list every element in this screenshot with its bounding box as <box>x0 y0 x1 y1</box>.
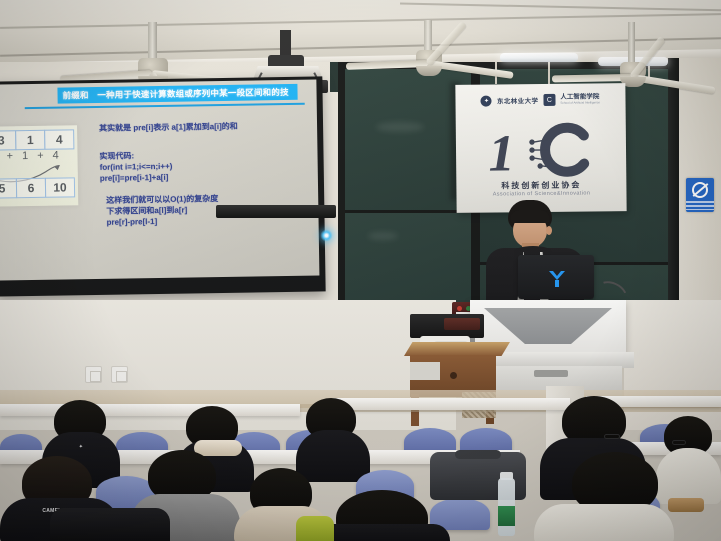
bag-accent <box>296 516 334 541</box>
cursor-indicator-icon <box>320 229 333 242</box>
sum-op: + <box>37 150 44 162</box>
sum-term: 1 <box>22 150 28 162</box>
desk-top <box>404 342 510 356</box>
fan-rod <box>628 22 635 66</box>
presenter-hair-front <box>510 210 550 223</box>
conclusion-line: 这样我们就可以以O(1)的复杂度 <box>106 193 218 206</box>
projection-screen-frame: 前缀和 一种用于快速计算数组或序列中某一段区间和的技 es 3 1 4 3 + … <box>0 76 326 296</box>
fan-blades <box>428 60 429 61</box>
ceiling-seam <box>0 13 721 29</box>
prefix-cell: 5 <box>0 178 17 198</box>
conclusion-line: pre[r]-pre[l-1] <box>106 215 218 228</box>
desk-shelf <box>410 362 440 380</box>
slide-conclusion-block: 这样我们就可以以O(1)的复杂度 下求得区间和a[l]到a[r] pre[r]-… <box>106 193 219 228</box>
slide-watermark-icon <box>283 280 305 281</box>
laptop-logo-icon <box>546 268 568 290</box>
projection-screen[interactable]: 前缀和 一种用于快速计算数组或序列中某一段区间和的技 es 3 1 4 3 + … <box>0 80 319 281</box>
prefix-row: 5 6 10 <box>0 177 75 198</box>
slide-margin-note: es <box>0 102 21 108</box>
chalk-smudge <box>368 232 398 240</box>
array-cell: 1 <box>15 130 45 150</box>
no-smoking-sign-text <box>686 201 714 210</box>
desk-row <box>330 398 570 410</box>
fan-blades <box>632 74 633 75</box>
marker <box>457 306 462 311</box>
shoulder-bag <box>50 508 170 541</box>
prefix-cell: 10 <box>45 177 75 197</box>
student-body <box>656 448 721 504</box>
school-name-en: School of Artificial Intelligence <box>560 100 600 104</box>
backpack-strap <box>455 450 501 459</box>
desk-row <box>0 404 300 416</box>
desk-drawer-knob[interactable] <box>450 372 457 379</box>
ceiling-seam <box>400 3 721 12</box>
slide-code-block: 实现代码: for(int i=1;i<=n;i++) pre[i]=pre[i… <box>99 150 172 184</box>
slide-paragraph-definition: 其实就是 pre[i]表示 a[1]累加到a[i]的和 <box>99 121 238 134</box>
jacket-logo: ✦ <box>66 444 96 450</box>
school-name-block: 人工智能学院 School of Artificial Intelligence <box>560 94 600 104</box>
wall-outlet[interactable] <box>85 366 102 383</box>
fan-blades <box>152 70 153 71</box>
association-logo-icon: 1 <box>488 121 595 178</box>
array-cell: 3 <box>0 130 16 150</box>
bottle-label <box>498 506 515 526</box>
fan-rod <box>148 22 157 62</box>
sum-term: 4 <box>53 150 59 162</box>
presenter-ear <box>546 226 552 235</box>
university-name: 东北林业大学 <box>497 95 539 105</box>
lecture-hall-photo: 前缀和 一种用于快速计算数组或序列中某一段区间和的技 es 3 1 4 3 + … <box>0 0 721 541</box>
desk-power-strip <box>444 318 480 330</box>
screen-roller-case <box>216 205 336 218</box>
sum-op: + <box>7 150 14 162</box>
association-name-en: Association of Science&Innovation <box>456 190 626 198</box>
array-row: 3 1 4 <box>0 129 74 150</box>
slide-underline <box>25 103 305 109</box>
chair-armrest <box>668 498 704 512</box>
projector-rod <box>280 30 291 58</box>
eyeglasses <box>604 434 620 439</box>
wall-outlet[interactable] <box>111 366 128 383</box>
chalk-smudge <box>376 122 424 132</box>
prefix-cell: 6 <box>16 178 46 198</box>
student-body <box>296 430 370 482</box>
school-logo-icon: C <box>543 94 555 106</box>
sum-expression-row: 3 + 1 + 4 <box>0 149 88 163</box>
array-cell: 4 <box>44 129 74 149</box>
light-hanger <box>548 62 550 84</box>
student-body <box>534 504 674 541</box>
banner-header: ✦ 东北林业大学 C 人工智能学院 School of Artificial I… <box>461 91 619 109</box>
association-banner: ✦ 东北林业大学 C 人工智能学院 School of Artificial I… <box>455 83 626 213</box>
code-line: pre[i]=pre[i-1]+a[i] <box>100 172 173 184</box>
fluorescent-tube-light <box>500 53 578 62</box>
svg-text:1: 1 <box>488 125 520 179</box>
university-crest-icon: ✦ <box>481 95 492 106</box>
podium-slot <box>534 370 568 377</box>
eyeglasses <box>672 440 686 445</box>
